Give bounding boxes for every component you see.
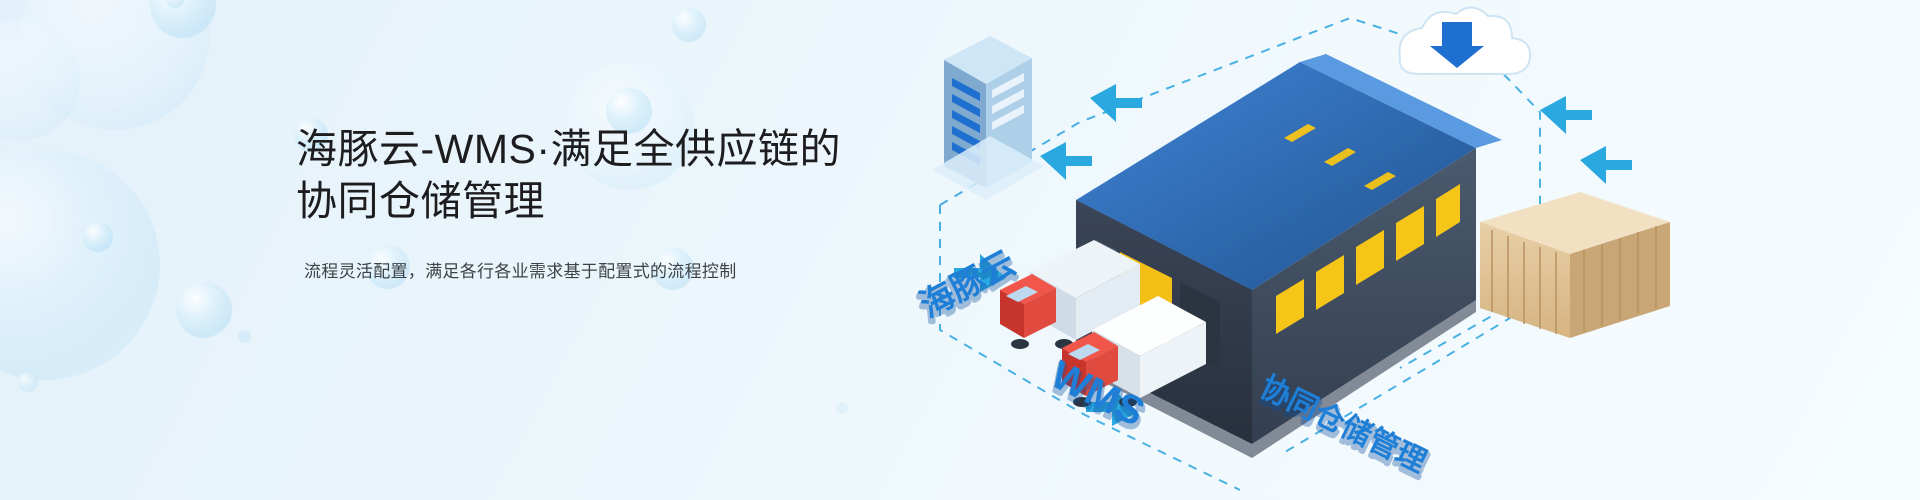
page-title: 海豚云-WMS·满足全供应链的 协同仓储管理 — [296, 123, 896, 227]
headline-line-2: 协同仓储管理 — [296, 175, 896, 227]
headline-line-1: 海豚云-WMS·满足全供应链的 — [296, 123, 896, 175]
bubble-decoration — [166, 0, 184, 8]
bubble-decoration — [836, 402, 848, 414]
hero-subtitle: 流程灵活配置，满足各行各业需求基于配置式的流程控制 — [304, 259, 896, 285]
shipping-container — [1480, 192, 1670, 338]
cloud-upload-icon — [1399, 7, 1530, 74]
bubble-decoration — [20, 0, 210, 130]
hero-copy: 海豚云-WMS·满足全供应链的 协同仓储管理 流程灵活配置，满足各行各业需求基于… — [296, 96, 896, 302]
bubble-decoration — [83, 222, 113, 252]
bubble-decoration — [150, 0, 216, 38]
bubble-decoration — [0, 20, 80, 140]
bubble-decoration — [18, 372, 38, 392]
warehouse-illustration: 海豚云 海豚云 WMS WMS 协同仓储管理 协同仓储管理 — [880, 0, 1920, 500]
bubble-decoration — [238, 330, 251, 343]
server-rack — [932, 36, 1044, 200]
hero-banner: 海豚云-WMS·满足全供应链的 协同仓储管理 流程灵活配置，满足各行各业需求基于… — [0, 0, 1920, 500]
bubble-decoration — [176, 282, 232, 338]
bubble-decoration — [0, 150, 160, 380]
bubble-decoration — [672, 8, 706, 42]
